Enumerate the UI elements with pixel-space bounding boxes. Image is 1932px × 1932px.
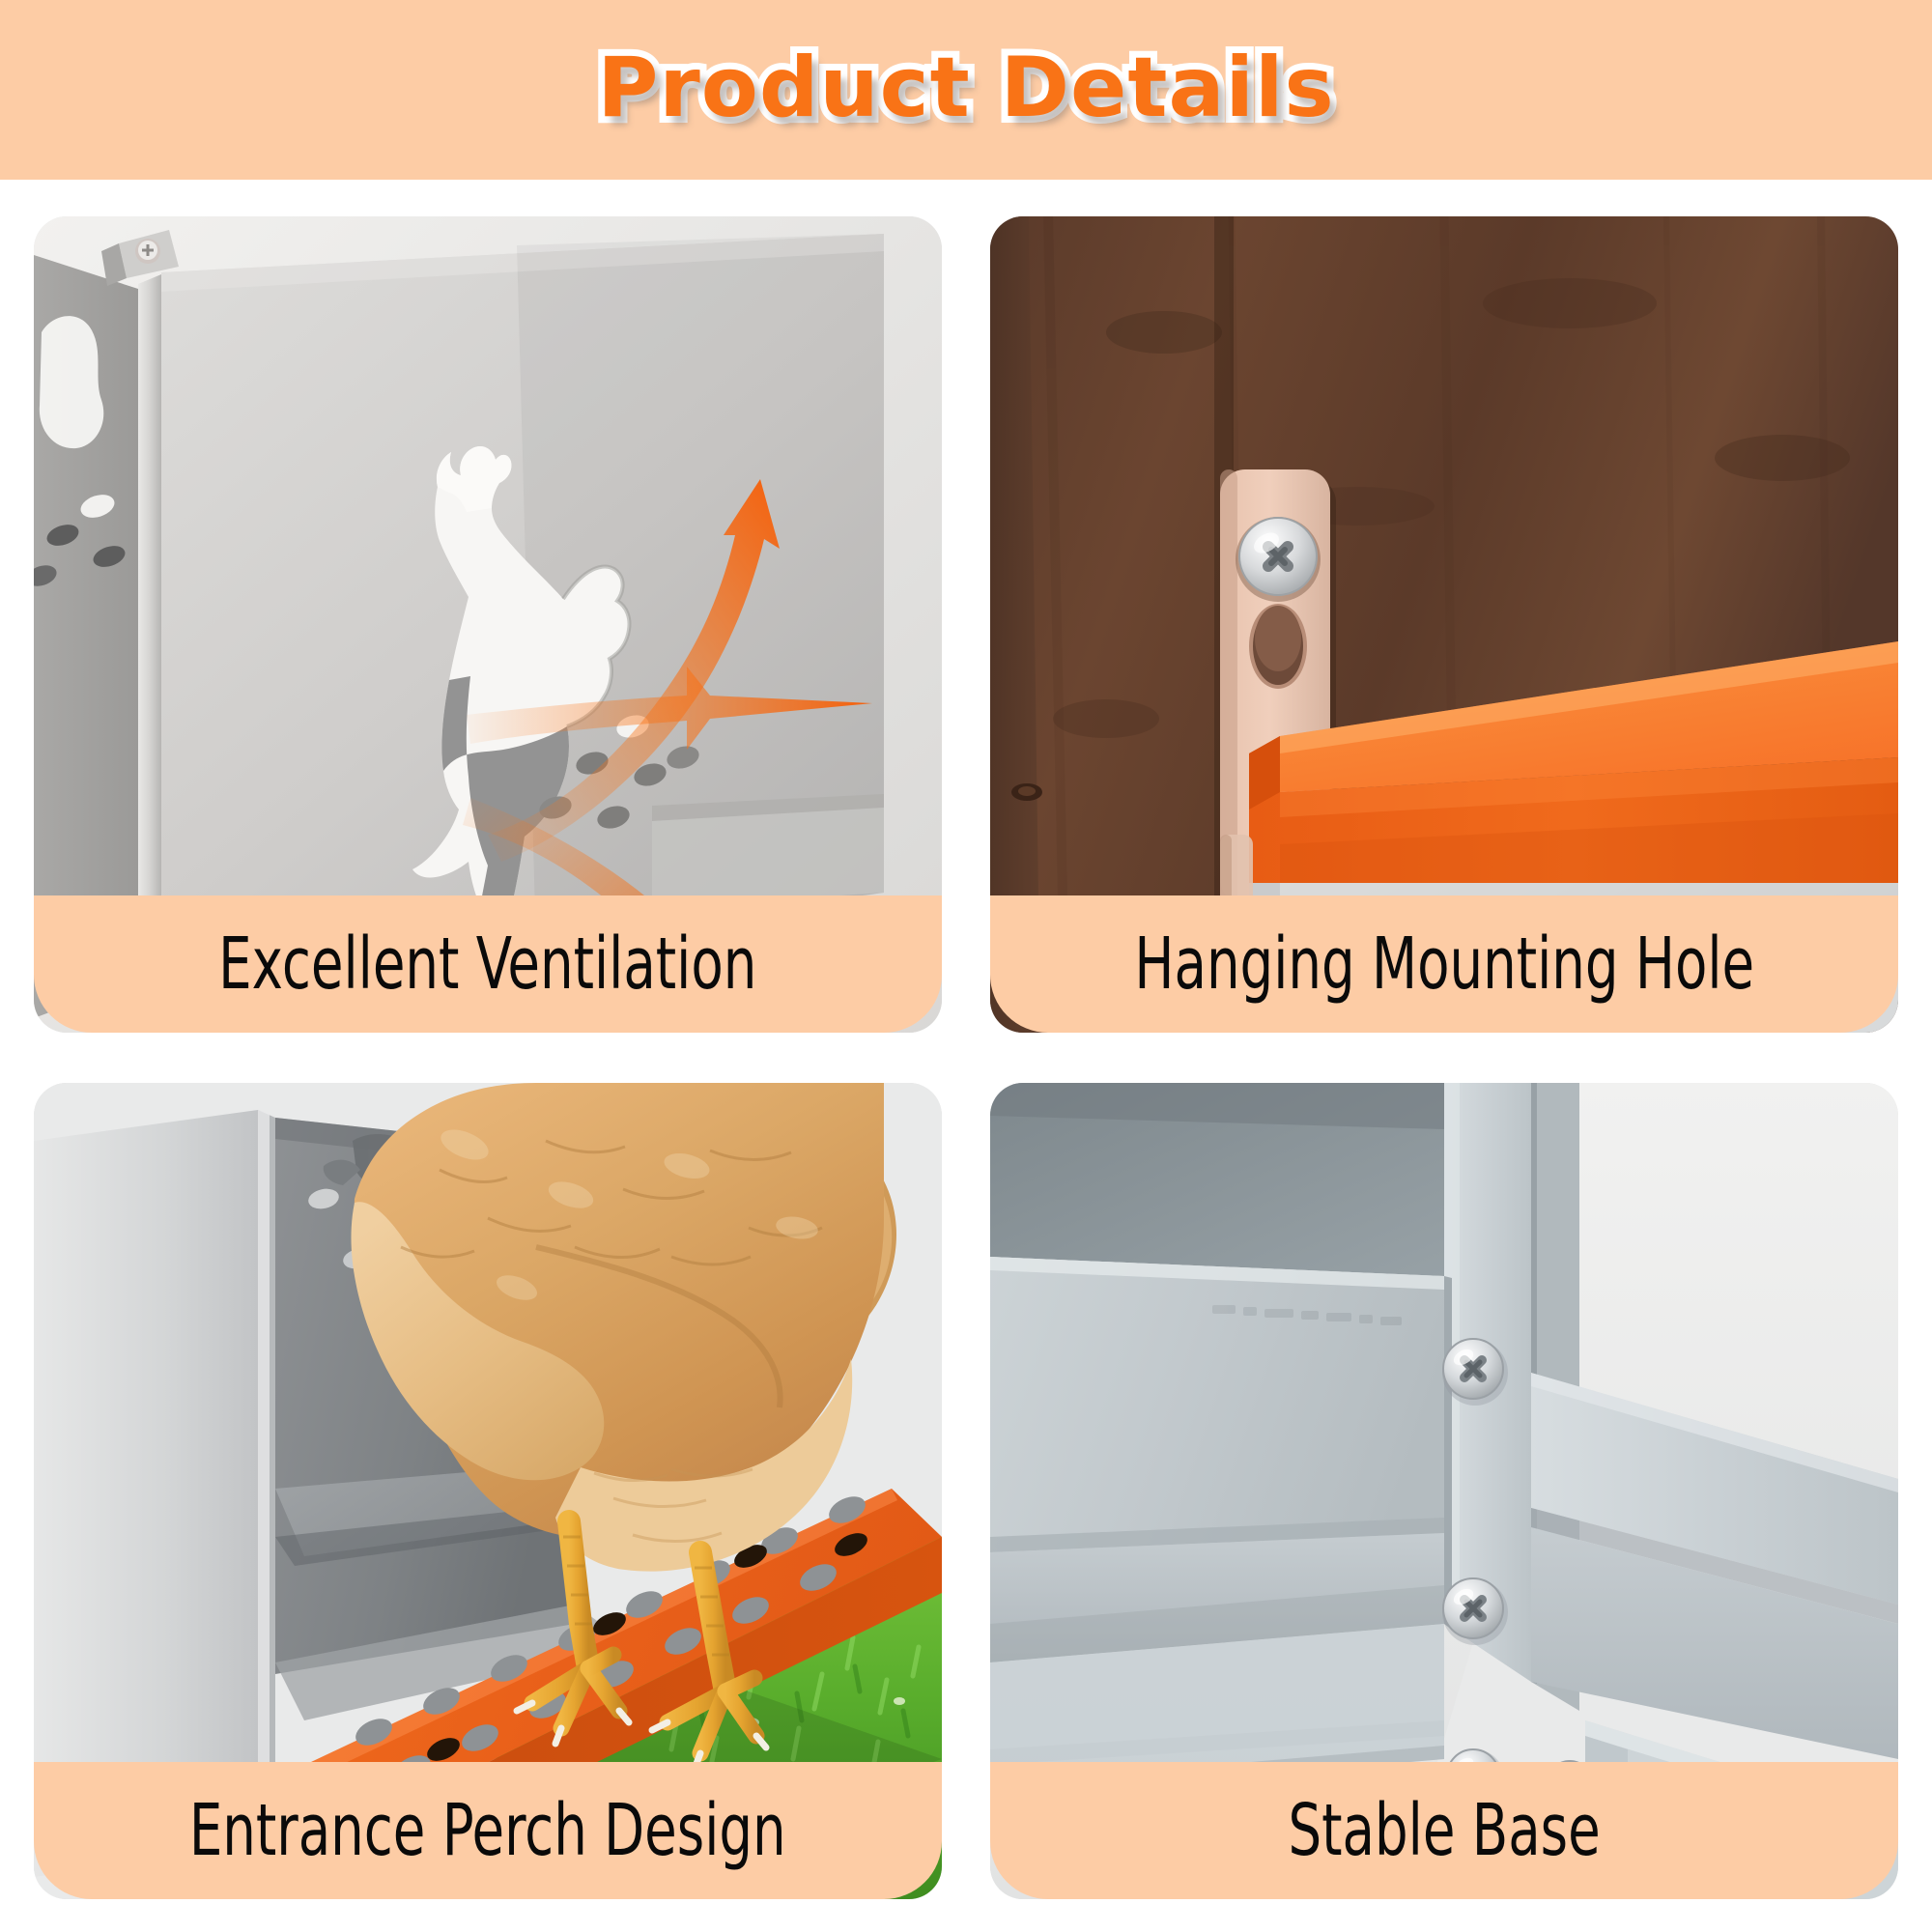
card-caption-hanging-mounting-hole: Hanging Mounting Hole [990,895,1898,1033]
caption-label: Entrance Perch Design [189,1795,786,1866]
caption-label: Excellent Ventilation [218,928,756,1000]
card-caption-entrance-perch-design: Entrance Perch Design [34,1762,942,1899]
card-caption-stable-base: Stable Base [990,1762,1898,1899]
feature-grid: Excellent Ventilation [34,216,1898,1899]
page-title: Product Details [597,46,1334,129]
feature-card-hanging-mounting-hole[interactable]: Hanging Mounting Hole [990,216,1898,1033]
card-caption-excellent-ventilation: Excellent Ventilation [34,895,942,1033]
caption-label: Stable Base [1288,1795,1600,1866]
caption-label: Hanging Mounting Hole [1134,928,1754,1000]
phillips-screw [1236,517,1321,602]
feature-card-entrance-perch-design[interactable]: Entrance Perch Design [34,1083,942,1899]
product-details-page: Product Details [0,0,1932,1932]
wood-knot [1011,783,1042,801]
feature-card-stable-base[interactable]: Stable Base [990,1083,1898,1899]
page-header: Product Details [0,0,1932,180]
feature-card-excellent-ventilation[interactable]: Excellent Ventilation [34,216,942,1033]
